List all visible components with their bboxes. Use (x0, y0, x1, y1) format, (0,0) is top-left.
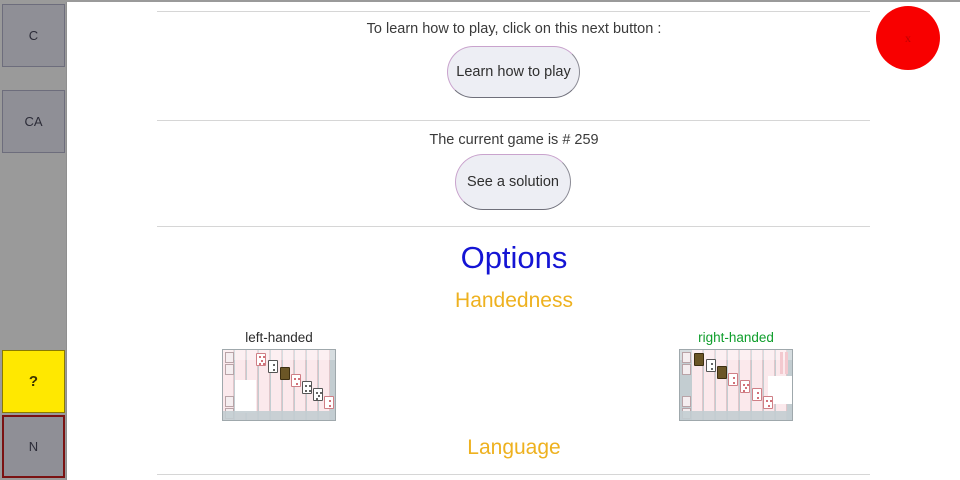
divider-top (157, 11, 870, 12)
sidebar-button-ca[interactable]: CA (2, 90, 65, 153)
language-section-title: Language (68, 436, 960, 460)
learn-instruction-text: To learn how to play, click on this next… (68, 21, 960, 37)
handedness-section-title: Handedness (68, 289, 960, 313)
sidebar-button-n-label: N (29, 439, 38, 454)
sidebar-button-help[interactable]: ? (2, 350, 65, 413)
close-icon-glyph: x (876, 6, 940, 70)
close-circle-icon[interactable]: x (876, 6, 940, 70)
current-game-status-text: The current game is # 259 (68, 132, 960, 148)
handedness-option-right-handed-label: right-handed (651, 330, 821, 346)
app-window: C CA ? N To learn how to play, click on … (0, 0, 960, 480)
left-handed-board-preview[interactable] (222, 349, 336, 421)
sidebar-button-help-label: ? (29, 373, 38, 390)
see-a-solution-button[interactable]: See a solution (455, 154, 571, 210)
divider-middle (157, 120, 870, 121)
sidebar-button-n[interactable]: N (2, 415, 65, 478)
options-page-title: Options (68, 240, 960, 276)
handedness-option-left-handed-label: left-handed (194, 330, 364, 346)
sidebar-button-ca-label: CA (24, 114, 42, 129)
handedness-option-right-handed[interactable]: right-handed (651, 330, 821, 421)
divider-options (157, 226, 870, 227)
main-panel: To learn how to play, click on this next… (68, 2, 960, 480)
right-handed-board-preview[interactable] (679, 349, 793, 421)
handedness-option-left-handed[interactable]: left-handed (194, 330, 364, 421)
sidebar: C CA ? N (0, 2, 67, 480)
sidebar-button-c-label: C (29, 28, 38, 43)
see-a-solution-button-label: See a solution (467, 174, 559, 190)
sidebar-button-c[interactable]: C (2, 4, 65, 67)
learn-how-to-play-button-label: Learn how to play (456, 64, 570, 80)
learn-how-to-play-button[interactable]: Learn how to play (447, 46, 580, 98)
divider-bottom (157, 474, 870, 475)
